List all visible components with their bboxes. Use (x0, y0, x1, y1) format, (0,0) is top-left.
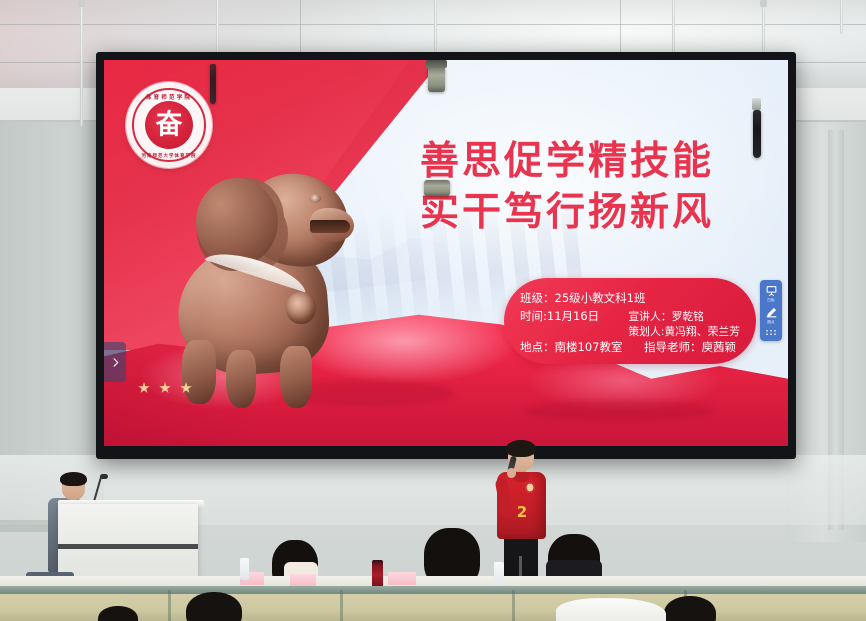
name-card (388, 572, 416, 585)
planner-value: 黄冯翔、荣兰芳 (664, 325, 740, 338)
guardian-lion-statue (160, 164, 360, 414)
rod-cap (78, 0, 85, 7)
lion-bell (286, 292, 316, 324)
silk-fold (524, 400, 714, 422)
planner-label: 策划人: (628, 325, 664, 338)
slide-info-box: 班级： 25级小教文科1班 时间:11月16日 宣讲人：罗乾铭 策划人:黄冯翔、… (504, 278, 756, 364)
whiteboard-icon (765, 284, 778, 297)
lion-leg (182, 340, 216, 404)
lion-eye (310, 194, 321, 203)
ceiling-rod (840, 0, 843, 34)
class-label: 班级： (520, 290, 555, 308)
lion-leg (226, 350, 256, 408)
planner-line: 策划人:黄冯翔、荣兰芳 (628, 324, 740, 339)
advisor-group: 指导老师：庾茜颖 (644, 339, 740, 357)
judges-table-rail (0, 586, 866, 594)
water-bottle (494, 562, 504, 588)
presenter-hand (507, 468, 516, 478)
toolbar-label-annotate: 圈点 (767, 320, 775, 325)
hanging-microphone (210, 64, 216, 104)
credits-group: 宣讲人：罗乾铭 策划人:黄冯翔、荣兰芳 (628, 309, 740, 340)
logo-core: 奋 (145, 101, 193, 149)
projector-pod (424, 180, 450, 196)
podium-band (58, 544, 198, 549)
place-group: 地点：南楼107教室 (520, 339, 644, 357)
ceiling-rod (80, 0, 83, 126)
star-icon (180, 382, 192, 394)
pencil-annotate-icon (765, 306, 778, 319)
table-seam (512, 590, 515, 621)
scene-root: 体育师范学院 奋 河南师范大学体育学院 (0, 0, 866, 621)
info-row-time: 时间:11月16日 宣讲人：罗乾铭 策划人:黄冯翔、荣兰芳 (520, 308, 740, 340)
logo-glyph: 奋 (145, 112, 193, 139)
toolbar-item-annotate[interactable]: 圈点 (765, 306, 778, 325)
lion-mane (196, 178, 278, 266)
speaker-pod-top (426, 60, 447, 68)
water-bottle (240, 558, 249, 580)
advisor-label: 指导老师： (644, 340, 702, 354)
lion-leg (280, 346, 312, 408)
ceiling-rod (672, 0, 675, 58)
podium-speaker-hair (60, 472, 87, 486)
info-row-place: 地点：南楼107教室 指导老师：庾茜颖 (520, 339, 740, 357)
chevron-right-icon (110, 357, 121, 368)
star-icon (159, 382, 171, 394)
presenter-emblem (525, 482, 535, 493)
speaker-line: 宣讲人：罗乾铭 (628, 309, 740, 324)
time-label: 时间: (520, 309, 547, 323)
school-logo: 体育师范学院 奋 河南师范大学体育学院 (126, 82, 212, 168)
next-slide-button[interactable] (104, 342, 126, 382)
mic-clip (752, 98, 761, 110)
gold-stars (138, 382, 192, 394)
presenter-jersey-number: 2 (514, 504, 530, 520)
hanging-microphone (753, 110, 761, 158)
logo-bottom-text: 河南师范大学体育学院 (126, 153, 212, 159)
speaker-pod (428, 66, 445, 92)
time-value: 11月16日 (547, 309, 599, 323)
rod-cap (760, 0, 767, 7)
toolbar-item-whiteboard[interactable]: 白板 (765, 284, 778, 303)
led-screen-frame: 体育师范学院 奋 河南师范大学体育学院 (96, 52, 796, 459)
slide-toolbar[interactable]: 白板 圈点 (760, 280, 782, 341)
lion-mouth (310, 220, 350, 233)
ceiling-seam (0, 24, 866, 25)
speaker-label: 宣讲人： (628, 310, 671, 323)
class-value: 25级小教文科1班 (555, 290, 646, 308)
star-icon (138, 382, 150, 394)
toolbar-label-whiteboard: 白板 (767, 298, 775, 303)
time-group: 时间:11月16日 (520, 308, 628, 326)
presenter-hair (506, 440, 536, 457)
advisor-value: 庾茜颖 (702, 340, 737, 354)
logo-top-text: 体育师范学院 (126, 93, 212, 101)
info-row-class: 班级： 25级小教文科1班 (520, 290, 740, 308)
speaker-value: 罗乾铭 (672, 310, 704, 323)
table-seam (340, 590, 343, 621)
led-screen[interactable]: 体育师范学院 奋 河南师范大学体育学院 (104, 60, 788, 446)
place-label: 地点： (520, 340, 555, 354)
podium-microphone-head (100, 474, 108, 479)
table-seam (168, 590, 171, 621)
front-row-head (664, 596, 716, 621)
place-value: 南楼107教室 (555, 340, 623, 354)
more-dots-icon[interactable] (765, 329, 777, 336)
front-row-head (186, 592, 242, 621)
